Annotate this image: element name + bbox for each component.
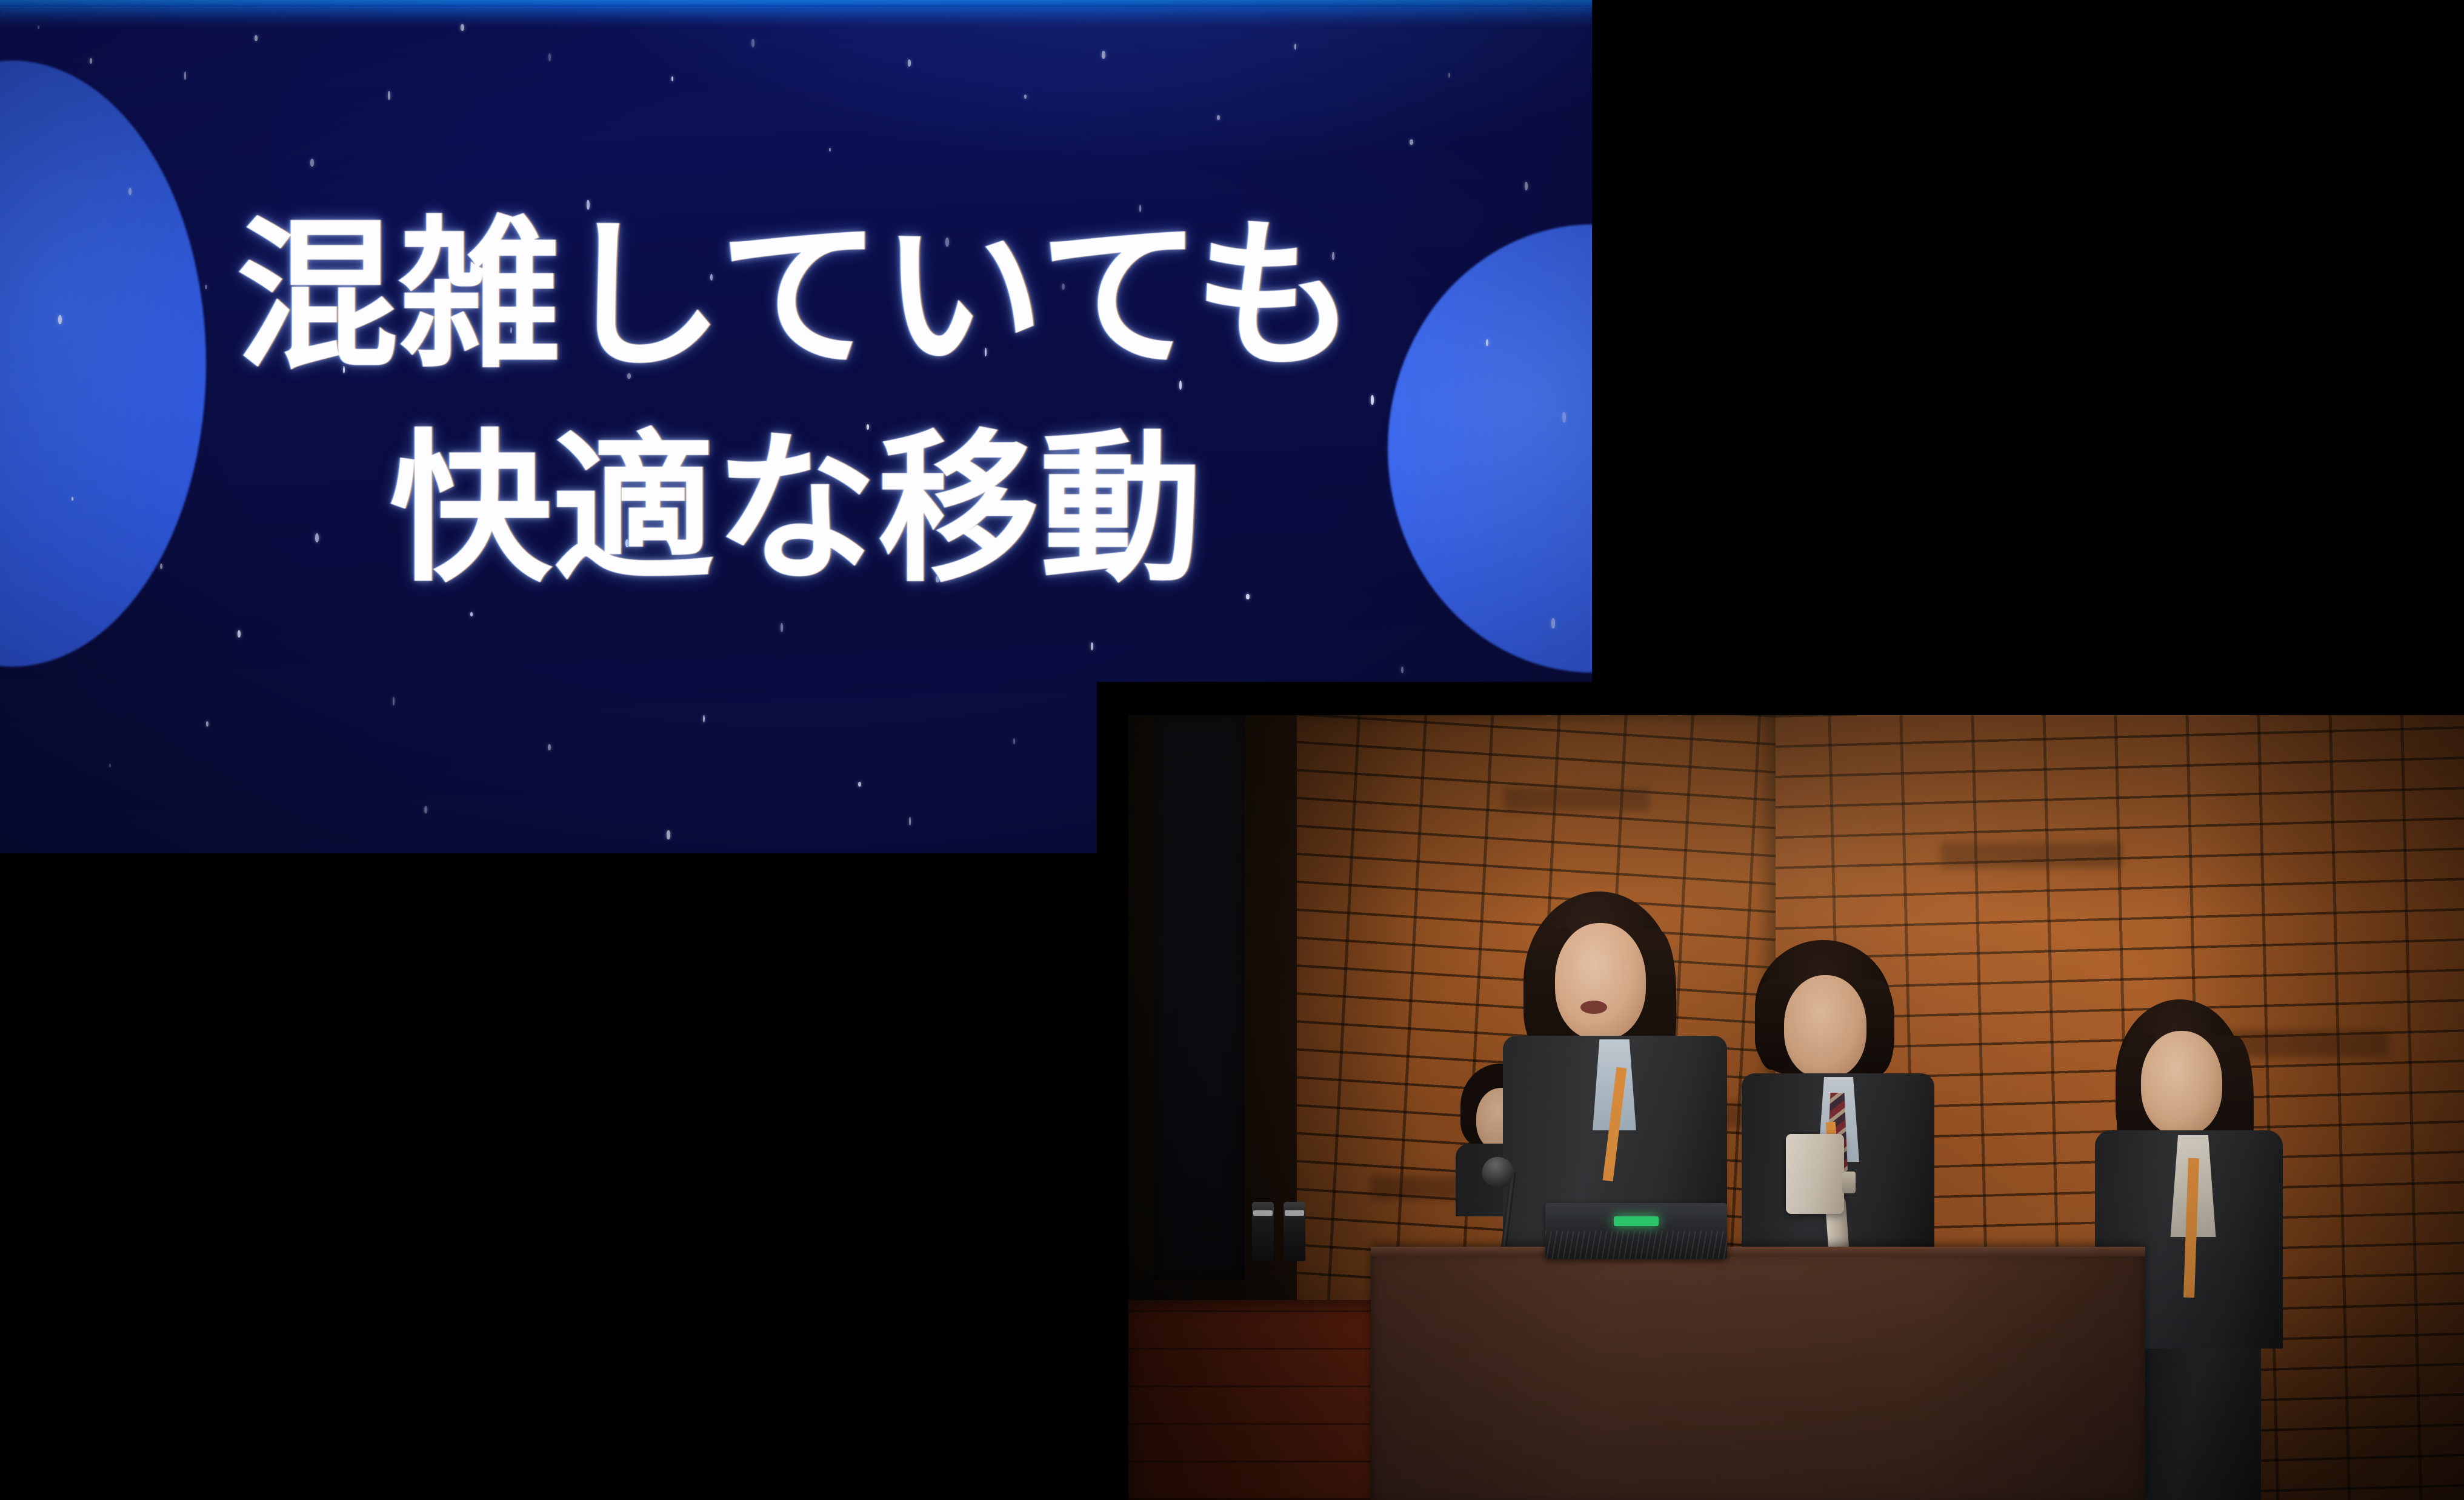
star <box>548 53 551 61</box>
star <box>1294 44 1296 50</box>
star <box>548 744 551 750</box>
screen-root: 混雑していても 快適な移動 <box>0 0 2464 1500</box>
star <box>1448 73 1450 78</box>
skirt <box>2131 1342 2261 1500</box>
star <box>90 58 92 64</box>
speaker-woman-at-microphone <box>1503 892 1727 1255</box>
wireless-microphone-transmitter <box>1284 1202 1305 1261</box>
face <box>1784 975 1866 1078</box>
podium-top-edge <box>1371 1247 2145 1256</box>
slide-accent-glow <box>0 7 1592 27</box>
wireless-microphone-transmitter <box>1252 1202 1274 1261</box>
star <box>909 817 911 825</box>
star <box>1024 95 1027 99</box>
face <box>1555 923 1646 1039</box>
star <box>1091 642 1093 650</box>
star <box>781 623 783 632</box>
face <box>2141 1031 2222 1135</box>
star <box>388 91 390 100</box>
star <box>1525 182 1528 190</box>
laptop-vents <box>1545 1231 1727 1259</box>
star <box>1410 139 1413 145</box>
star <box>255 35 258 41</box>
star <box>1013 738 1015 744</box>
photo-panel <box>1097 682 2464 1500</box>
star <box>238 630 241 638</box>
star <box>1102 51 1105 59</box>
slide-headline: 混雑していても 快適な移動 <box>0 200 1592 605</box>
star <box>109 764 111 767</box>
star <box>703 715 705 722</box>
star <box>829 148 831 152</box>
star <box>310 159 314 167</box>
document-camera-lens <box>1842 1172 1856 1193</box>
star <box>184 72 186 80</box>
podium <box>1371 1247 2145 1500</box>
star <box>1217 115 1220 120</box>
stage-photograph <box>1128 715 2464 1500</box>
doorway-interior <box>1154 715 1245 1280</box>
laptop <box>1545 1203 1727 1259</box>
star <box>667 830 670 839</box>
star <box>1401 667 1403 673</box>
star <box>671 76 673 81</box>
star <box>470 612 473 616</box>
laptop-status-led <box>1614 1216 1659 1226</box>
star <box>751 39 754 47</box>
star <box>908 59 911 67</box>
headline-line-1: 混雑していても <box>0 200 1592 392</box>
star <box>424 806 427 813</box>
headline-line-2: 快適な移動 <box>0 413 1592 605</box>
document-camera-head <box>1786 1134 1844 1214</box>
star <box>393 697 395 705</box>
star <box>206 721 208 727</box>
star <box>858 782 861 787</box>
mouth <box>1580 1001 1607 1014</box>
